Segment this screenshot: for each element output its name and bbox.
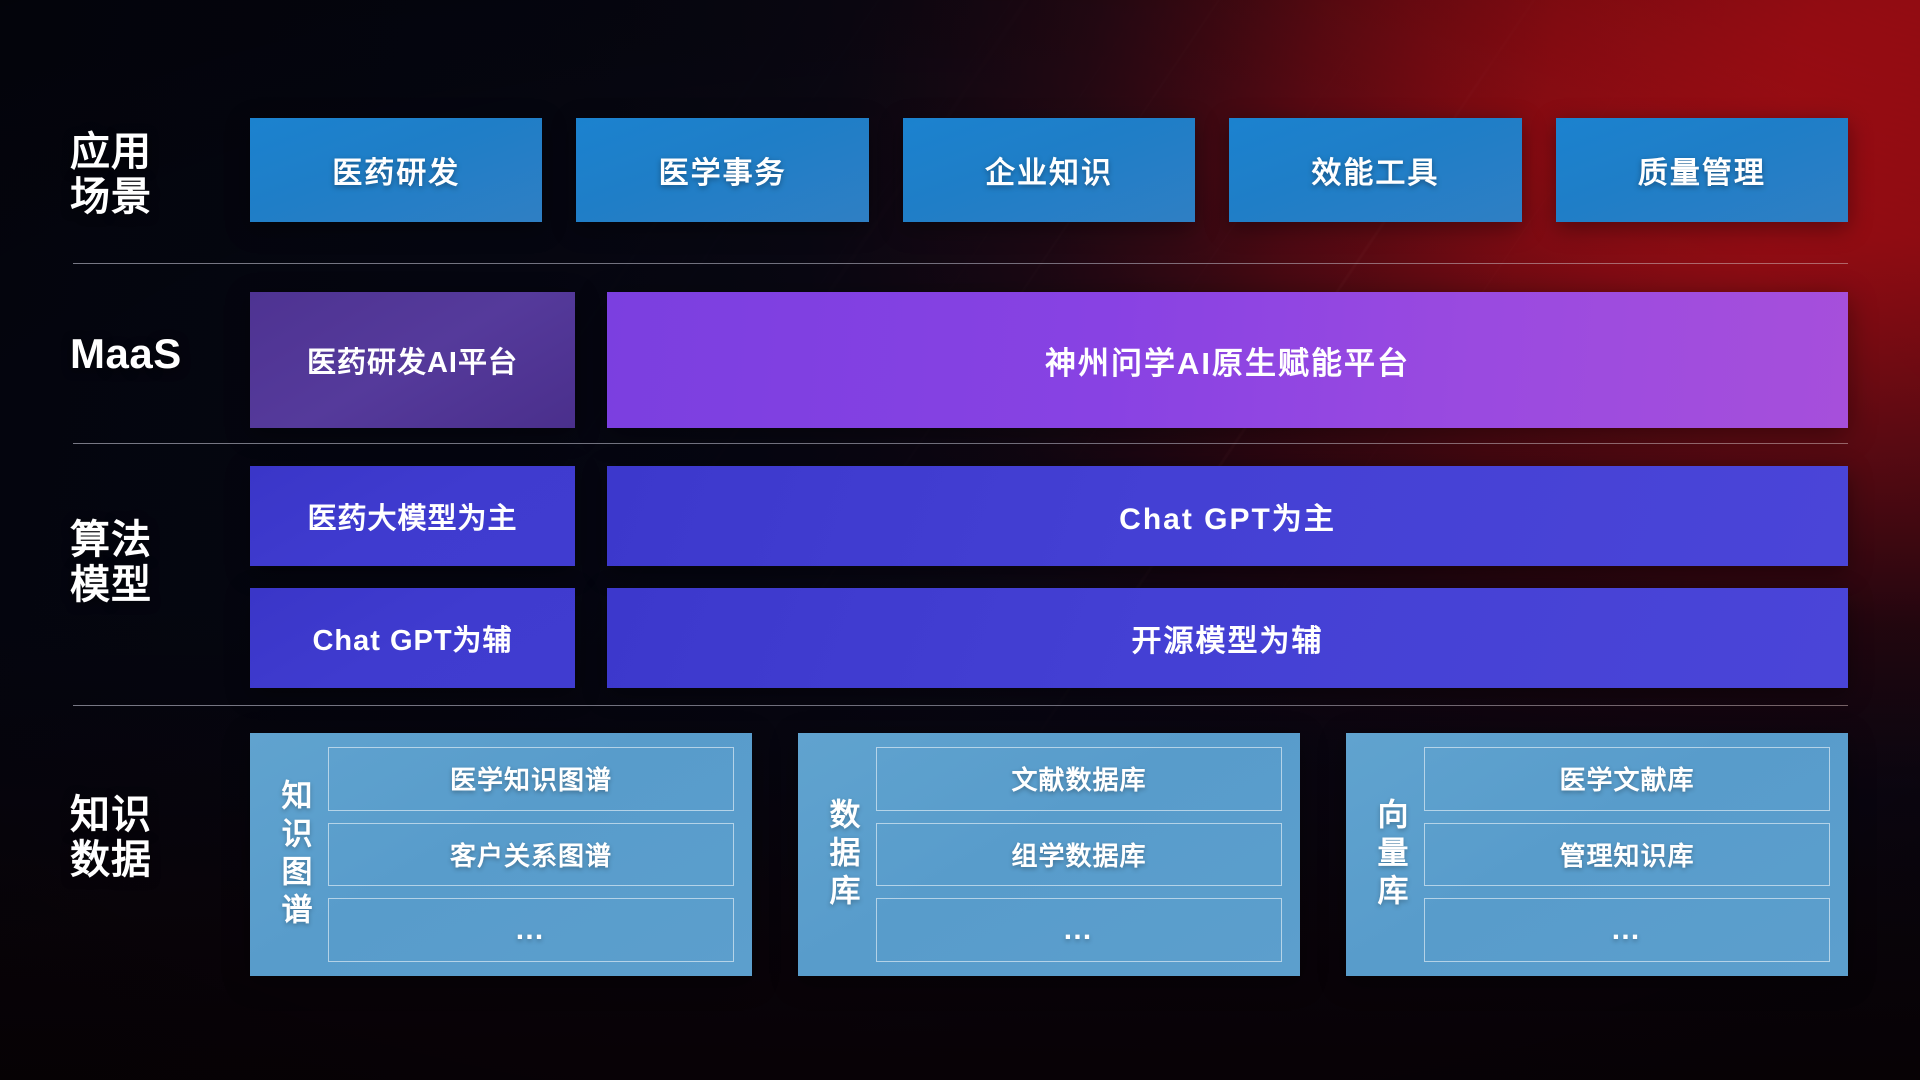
algo-box-medicine-llm-primary[interactable]: 医药大模型为主 — [250, 466, 575, 566]
knowledge-panel-item-list: 医学知识图谱 客户关系图谱 … — [328, 747, 734, 962]
knowledge-item-medical-literature[interactable]: 医学文献库 — [1424, 747, 1830, 811]
architecture-diagram: 应用 场景 医药研发 医学事务 企业知识 效能工具 质量管理 MaaS — [0, 0, 1920, 1080]
knowledge-item-literature-db[interactable]: 文献数据库 — [876, 747, 1282, 811]
knowledge-item-more[interactable]: … — [1424, 898, 1830, 962]
algorithm-row-primary: 医药大模型为主 Chat GPT为主 — [250, 466, 1848, 566]
row-application: 应用 场景 医药研发 医学事务 企业知识 效能工具 质量管理 — [0, 118, 1920, 222]
row-label-knowledge-line2: 数据 — [70, 838, 250, 883]
app-box-quality-management[interactable]: 质量管理 — [1556, 118, 1848, 222]
maas-box-label: 神州问学AI原生赋能平台 — [1045, 338, 1410, 383]
row-label-algorithm: 算法 模型 — [70, 518, 250, 608]
algo-box-chatgpt-primary[interactable]: Chat GPT为主 — [607, 466, 1848, 566]
app-box-label: 医学事务 — [659, 148, 787, 192]
app-box-medical-affairs[interactable]: 医学事务 — [576, 118, 868, 222]
knowledge-panel-vector-store[interactable]: 向量库 医学文献库 管理知识库 … — [1346, 733, 1848, 976]
knowledge-panel-strip: 知识图谱 医学知识图谱 客户关系图谱 … 数据库 文献数据库 组学数据库 … 向… — [250, 733, 1848, 976]
divider-application-maas — [73, 263, 1848, 264]
algo-box-label: 医药大模型为主 — [307, 495, 517, 537]
maas-box-shenzhou-platform[interactable]: 神州问学AI原生赋能平台 — [607, 292, 1848, 428]
divider-maas-algorithm — [73, 443, 1848, 444]
knowledge-item-crm-graph[interactable]: 客户关系图谱 — [328, 823, 734, 887]
knowledge-panel-group-label: 向量库 — [1356, 747, 1424, 962]
knowledge-panel-knowledge-graph[interactable]: 知识图谱 医学知识图谱 客户关系图谱 … — [250, 733, 752, 976]
row-label-knowledge: 知识 数据 — [70, 793, 250, 883]
knowledge-panel-item-list: 文献数据库 组学数据库 … — [876, 747, 1282, 962]
app-box-enterprise-knowledge[interactable]: 企业知识 — [903, 118, 1195, 222]
app-box-label: 医药研发 — [332, 148, 460, 192]
row-algorithm: 算法 模型 医药大模型为主 Chat GPT为主 Chat GPT为辅 开源模型… — [0, 466, 1920, 688]
row-label-application: 应用 场景 — [70, 130, 250, 220]
divider-algorithm-knowledge — [73, 705, 1848, 706]
knowledge-panel-database[interactable]: 数据库 文献数据库 组学数据库 … — [798, 733, 1300, 976]
knowledge-panel-item-list: 医学文献库 管理知识库 … — [1424, 747, 1830, 962]
algo-box-label: 开源模型为辅 — [1132, 616, 1324, 660]
knowledge-item-more[interactable]: … — [328, 898, 734, 962]
row-label-application-line2: 场景 — [70, 175, 250, 220]
maas-box-medicine-ai-platform[interactable]: 医药研发AI平台 — [250, 292, 575, 428]
app-box-label: 质量管理 — [1638, 148, 1766, 192]
row-knowledge: 知识 数据 知识图谱 医学知识图谱 客户关系图谱 … 数据库 文献数据库 组学数… — [0, 733, 1920, 976]
knowledge-panel-group-label: 数据库 — [808, 747, 876, 962]
maas-box-label: 医药研发AI平台 — [307, 339, 518, 381]
app-box-medicine-rd[interactable]: 医药研发 — [250, 118, 542, 222]
row-label-application-line1: 应用 — [70, 130, 250, 175]
algorithm-box-grid: 医药大模型为主 Chat GPT为主 Chat GPT为辅 开源模型为辅 — [250, 466, 1848, 688]
algo-box-label: Chat GPT为主 — [1119, 494, 1336, 538]
knowledge-item-omics-db[interactable]: 组学数据库 — [876, 823, 1282, 887]
algo-box-opensource-secondary[interactable]: 开源模型为辅 — [607, 588, 1848, 688]
maas-box-strip: 医药研发AI平台 神州问学AI原生赋能平台 — [250, 292, 1848, 428]
algo-box-chatgpt-secondary[interactable]: Chat GPT为辅 — [250, 588, 575, 688]
row-maas: MaaS 医药研发AI平台 神州问学AI原生赋能平台 — [0, 292, 1920, 428]
row-label-maas: MaaS — [70, 330, 250, 377]
app-box-label: 效能工具 — [1311, 148, 1439, 192]
row-label-algorithm-line1: 算法 — [70, 518, 250, 563]
knowledge-item-medical-graph[interactable]: 医学知识图谱 — [328, 747, 734, 811]
algorithm-row-secondary: Chat GPT为辅 开源模型为辅 — [250, 588, 1848, 688]
knowledge-item-management-knowledge[interactable]: 管理知识库 — [1424, 823, 1830, 887]
application-box-strip: 医药研发 医学事务 企业知识 效能工具 质量管理 — [250, 118, 1848, 222]
app-box-label: 企业知识 — [985, 148, 1113, 192]
algo-box-label: Chat GPT为辅 — [312, 617, 512, 659]
app-box-efficiency-tools[interactable]: 效能工具 — [1229, 118, 1521, 222]
knowledge-panel-group-label: 知识图谱 — [260, 747, 328, 962]
row-label-algorithm-line2: 模型 — [70, 563, 250, 608]
knowledge-item-more[interactable]: … — [876, 898, 1282, 962]
row-label-knowledge-line1: 知识 — [70, 793, 250, 838]
